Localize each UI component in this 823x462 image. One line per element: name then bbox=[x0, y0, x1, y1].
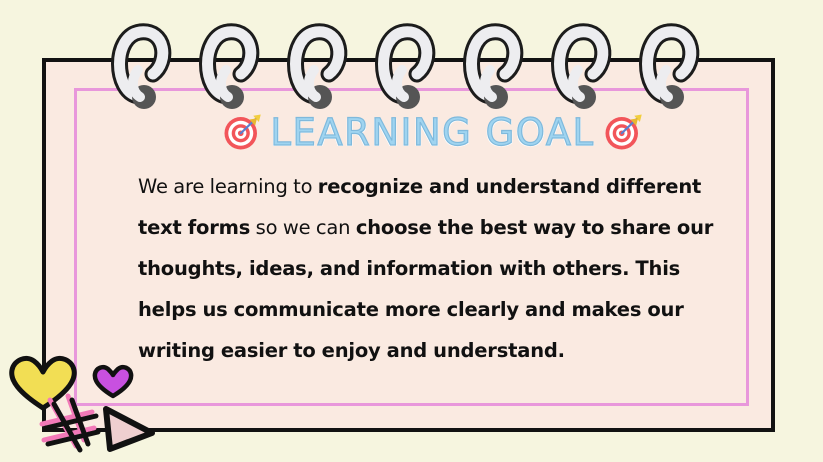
card-content: LEARNING GOAL We are learning to recogni… bbox=[46, 62, 779, 436]
page-title: LEARNING GOAL bbox=[138, 112, 727, 152]
dart-target-icon-right bbox=[603, 112, 643, 152]
notebook-card: LEARNING GOAL We are learning to recogni… bbox=[42, 58, 775, 432]
learning-goal-text: We are learning to recognize and underst… bbox=[138, 166, 727, 371]
body-text-regular: We are learning to bbox=[138, 175, 318, 198]
learning-goal-poster: LEARNING GOAL We are learning to recogni… bbox=[0, 0, 823, 462]
body-text-regular: so we can bbox=[250, 216, 356, 239]
dart-target-icon-left bbox=[222, 112, 262, 152]
page-title-text: LEARNING GOAL bbox=[270, 114, 594, 151]
